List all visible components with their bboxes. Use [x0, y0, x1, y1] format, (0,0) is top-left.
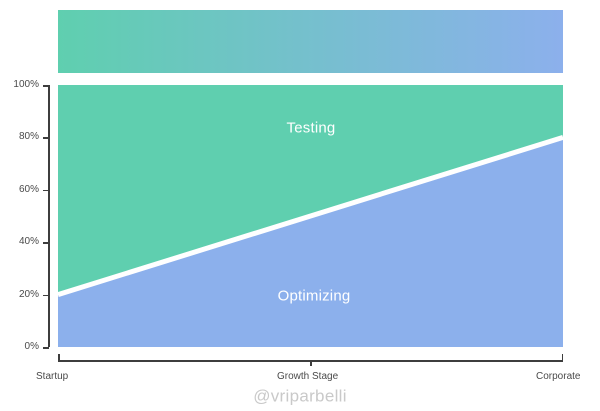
title-banner-gradient — [58, 10, 563, 73]
x-tick-growth-stage — [310, 360, 312, 366]
x-tick-corporate — [562, 354, 564, 361]
y-tick-20 — [43, 295, 49, 297]
y-tick-40 — [43, 242, 49, 244]
x-tick-label-corporate: Corporate — [536, 372, 580, 382]
y-tick-label-60: 60% — [0, 185, 39, 195]
y-tick-label-100: 100% — [0, 80, 39, 90]
y-tick-0 — [43, 347, 49, 349]
y-axis-line — [48, 85, 50, 347]
watermark-handle: @vriparbelli — [253, 388, 347, 405]
band-label-testing: Testing — [287, 121, 336, 136]
y-tick-60 — [43, 190, 49, 192]
y-tick-100 — [43, 85, 49, 87]
chart-container: Maturity of growth model Testing Optimiz… — [0, 0, 600, 411]
x-tick-label-startup: Startup — [36, 372, 68, 382]
x-tick-label-growth-stage: Growth Stage — [277, 372, 338, 382]
x-tick-startup — [58, 354, 60, 361]
y-tick-label-80: 80% — [0, 132, 39, 142]
band-label-optimizing: Optimizing — [278, 289, 351, 304]
y-tick-label-0: 0% — [0, 342, 39, 352]
chart-title-banner: Maturity of growth model — [58, 10, 563, 73]
y-tick-label-20: 20% — [0, 290, 39, 300]
y-tick-80 — [43, 137, 49, 139]
y-tick-label-40: 40% — [0, 237, 39, 247]
